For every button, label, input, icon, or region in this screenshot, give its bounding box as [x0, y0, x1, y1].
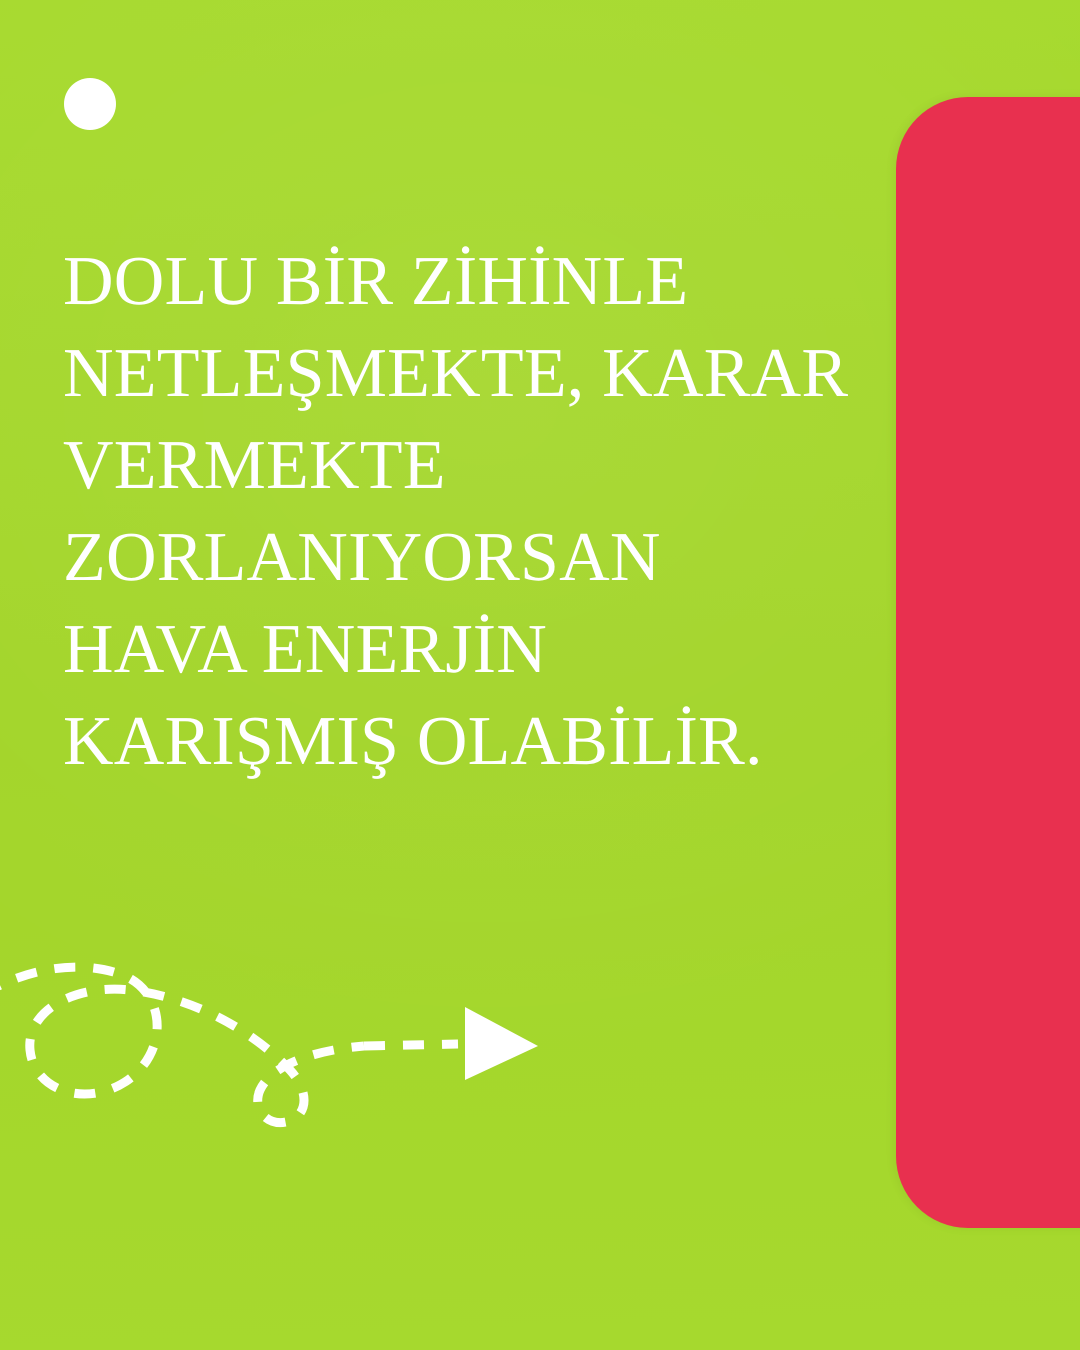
page-title: DOLU BİR ZİHİNLE NETLEŞMEKTE, KARAR VERM…: [63, 236, 853, 788]
arrowhead-triangle-icon: [465, 1007, 538, 1080]
dashed-swirl-arrow-icon: [0, 940, 580, 1140]
social-card: DOLU BİR ZİHİNLE NETLEŞMEKTE, KARAR VERM…: [0, 0, 1080, 1350]
white-dot-icon: [64, 78, 116, 130]
next-slide-panel[interactable]: [896, 97, 1080, 1228]
